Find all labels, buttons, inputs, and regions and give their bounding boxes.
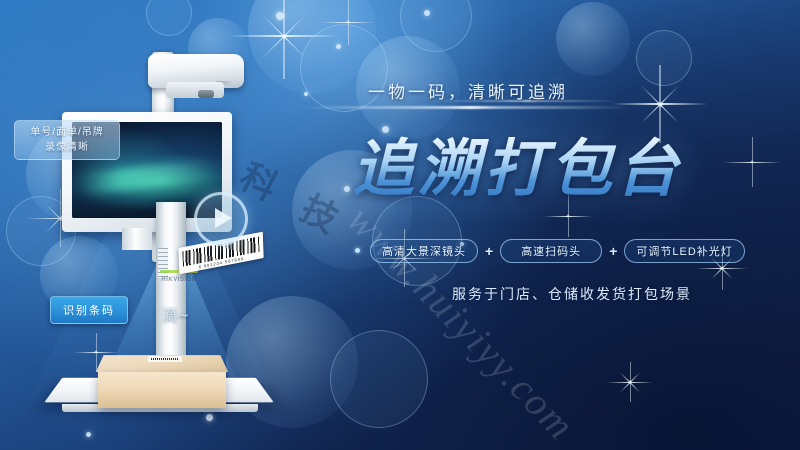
main-title: 追溯打包台 (352, 118, 682, 208)
video-play-button[interactable] (194, 192, 248, 246)
sub-copy: 服务于门店、仓储收发货打包场景 (452, 284, 692, 304)
callout-top-left-line1: 单号/面单/吊牌 (23, 125, 111, 140)
callout-top-left-line2: 录像清晰 (23, 140, 111, 155)
bokeh-circle (400, 0, 472, 52)
device-brand-label: HIKVISION (154, 277, 204, 283)
feature-badge-2[interactable]: 高速扫码头 (500, 239, 602, 263)
feature-badge-3[interactable]: 可调节LED补光灯 (624, 239, 744, 263)
monitor-stand (122, 228, 152, 250)
bokeh-dot (276, 12, 284, 20)
bokeh-dot (424, 10, 430, 16)
feature-badge-1[interactable]: 高清大景深镜头 (370, 239, 478, 263)
packing-station-device: HIKVISION 6 901234 567890 滴~ (70, 52, 300, 412)
bokeh-circle (636, 30, 692, 86)
parcel-shipping-label (148, 356, 183, 362)
bokeh-dot (86, 432, 91, 437)
tagline: 一物一码，清晰可追溯 (368, 78, 568, 103)
device-column (156, 202, 186, 377)
bokeh-dot (344, 186, 350, 192)
parcel-box-front (98, 372, 226, 408)
feature-badge-row: 高清大景深镜头 + 高速扫码头 + 可调节LED补光灯 (370, 239, 745, 263)
bullet-dot (355, 248, 360, 253)
bokeh-dot (336, 44, 341, 49)
badge-separator-2: + (609, 243, 617, 259)
bokeh-dot (304, 92, 308, 96)
bokeh-circle (330, 330, 428, 428)
beep-sound-text: 滴~ (162, 304, 190, 325)
bokeh-circle (556, 2, 630, 76)
bokeh-circle (146, 0, 192, 36)
play-triangle-icon (215, 208, 232, 228)
badge-separator-1: + (485, 243, 493, 259)
parcel-box (98, 364, 226, 410)
packing-platform (32, 352, 300, 430)
camera-neck (166, 82, 224, 98)
callout-top-left: 单号/面单/吊牌 录像清晰 (14, 120, 120, 160)
banner-stage: 翼 科 技 www.huiyiyy.com HIKVISION 6 901234… (0, 0, 800, 450)
light-streak (300, 106, 630, 109)
camera-lens-icon (198, 90, 214, 98)
url-watermark: www.huiyiyy.com (338, 196, 585, 449)
callout-bottom-left: 识别条码 (50, 296, 128, 324)
device-vent (158, 248, 168, 278)
